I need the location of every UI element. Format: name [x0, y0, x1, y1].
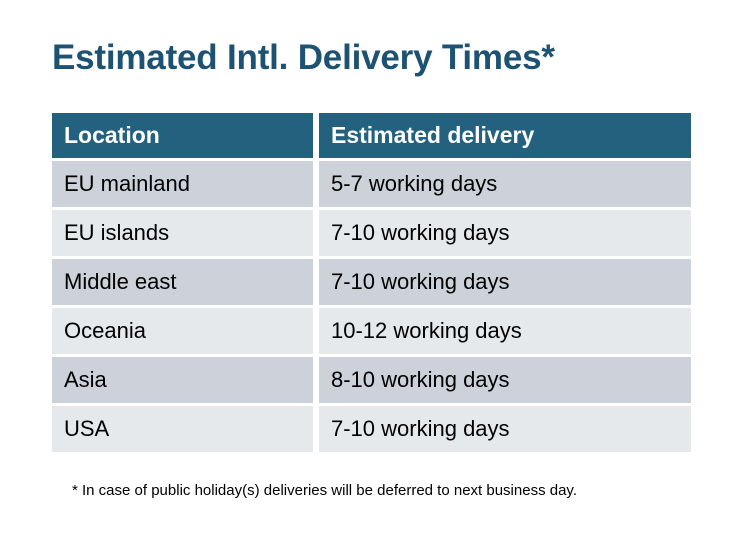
cell-location: EU mainland	[52, 161, 313, 207]
cell-location: Middle east	[52, 259, 313, 305]
column-header-estimated-delivery: Estimated delivery	[319, 113, 691, 158]
table-header-row: Location Estimated delivery	[52, 113, 691, 158]
cell-location: EU islands	[52, 210, 313, 256]
column-header-location: Location	[52, 113, 313, 158]
footnote-text: * In case of public holiday(s) deliverie…	[72, 481, 577, 501]
table-row: EU mainland 5-7 working days	[52, 161, 691, 207]
table-row: Oceania 10-12 working days	[52, 308, 691, 354]
table-row: Middle east 7-10 working days	[52, 259, 691, 305]
cell-location: Asia	[52, 357, 313, 403]
cell-estimated-delivery: 8-10 working days	[319, 357, 691, 403]
cell-location: USA	[52, 406, 313, 452]
cell-location: Oceania	[52, 308, 313, 354]
delivery-times-table: Location Estimated delivery EU mainland …	[52, 113, 691, 452]
table-row: Asia 8-10 working days	[52, 357, 691, 403]
page-title: Estimated Intl. Delivery Times*	[52, 36, 555, 80]
cell-estimated-delivery: 5-7 working days	[319, 161, 691, 207]
cell-estimated-delivery: 7-10 working days	[319, 210, 691, 256]
table-row: USA 7-10 working days	[52, 406, 691, 452]
cell-estimated-delivery: 7-10 working days	[319, 406, 691, 452]
cell-estimated-delivery: 7-10 working days	[319, 259, 691, 305]
delivery-times-card: Estimated Intl. Delivery Times* Location…	[0, 0, 745, 536]
cell-estimated-delivery: 10-12 working days	[319, 308, 691, 354]
table-row: EU islands 7-10 working days	[52, 210, 691, 256]
